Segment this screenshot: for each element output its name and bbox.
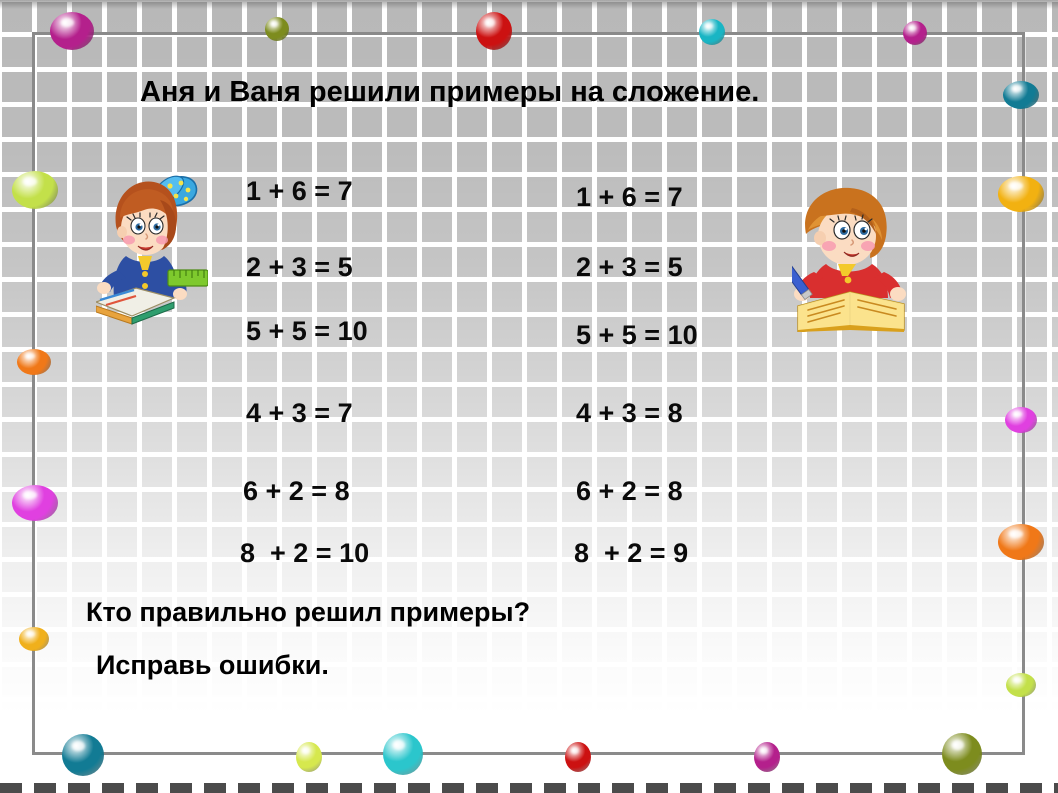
- bead-right-yellowgreen: [1006, 673, 1036, 697]
- question-text: Кто правильно решил примеры?: [86, 597, 530, 628]
- bead-top-magenta-2: [903, 21, 927, 45]
- bead-left-magenta: [12, 485, 58, 521]
- instruction-text: Исправь ошибки.: [96, 650, 329, 681]
- bead-right-magenta: [1005, 407, 1037, 433]
- equation-left-5: 6 + 2 = 8: [243, 476, 350, 507]
- bead-bottom-red: [565, 742, 591, 772]
- bead-right-gold: [998, 176, 1044, 212]
- equation-left-1: 1 + 6 = 7: [246, 176, 353, 207]
- bead-bottom-olive: [942, 733, 982, 775]
- bead-top-magenta: [50, 12, 94, 50]
- equation-right-6: 8 + 2 = 9: [574, 538, 688, 569]
- slide-canvas: Аня и Ваня решили примеры на сложение.: [0, 0, 1058, 793]
- equation-left-3: 5 + 5 = 10: [246, 316, 368, 347]
- bead-top-red: [476, 12, 512, 50]
- bead-right-orange: [998, 524, 1044, 560]
- boy-with-book-icon: [792, 180, 922, 337]
- equation-left-6: 8 + 2 = 10: [240, 538, 369, 569]
- bead-left-orange: [17, 349, 51, 375]
- bead-right-teal: [1003, 81, 1039, 109]
- equation-left-4: 4 + 3 = 7: [246, 398, 353, 429]
- equation-right-3: 5 + 5 = 10: [576, 320, 698, 351]
- equation-right-5: 6 + 2 = 8: [576, 476, 683, 507]
- bead-left-gold: [19, 627, 49, 651]
- bead-left-yellowgreen: [12, 171, 58, 209]
- bead-top-olive: [265, 17, 289, 41]
- bead-bottom-teal: [62, 734, 104, 776]
- page-title: Аня и Ваня решили примеры на сложение.: [140, 76, 759, 109]
- bead-bottom-cyan: [383, 733, 423, 775]
- equation-right-2: 2 + 3 = 5: [576, 252, 683, 283]
- equation-right-1: 1 + 6 = 7: [576, 182, 683, 213]
- equation-right-4: 4 + 3 = 8: [576, 398, 683, 429]
- girl-with-book-icon: [96, 166, 208, 331]
- equation-left-2: 2 + 3 = 5: [246, 252, 353, 283]
- bead-bottom-magenta: [754, 742, 780, 772]
- bead-top-cyan: [699, 19, 725, 45]
- bead-bottom-yellowgreen: [296, 742, 322, 772]
